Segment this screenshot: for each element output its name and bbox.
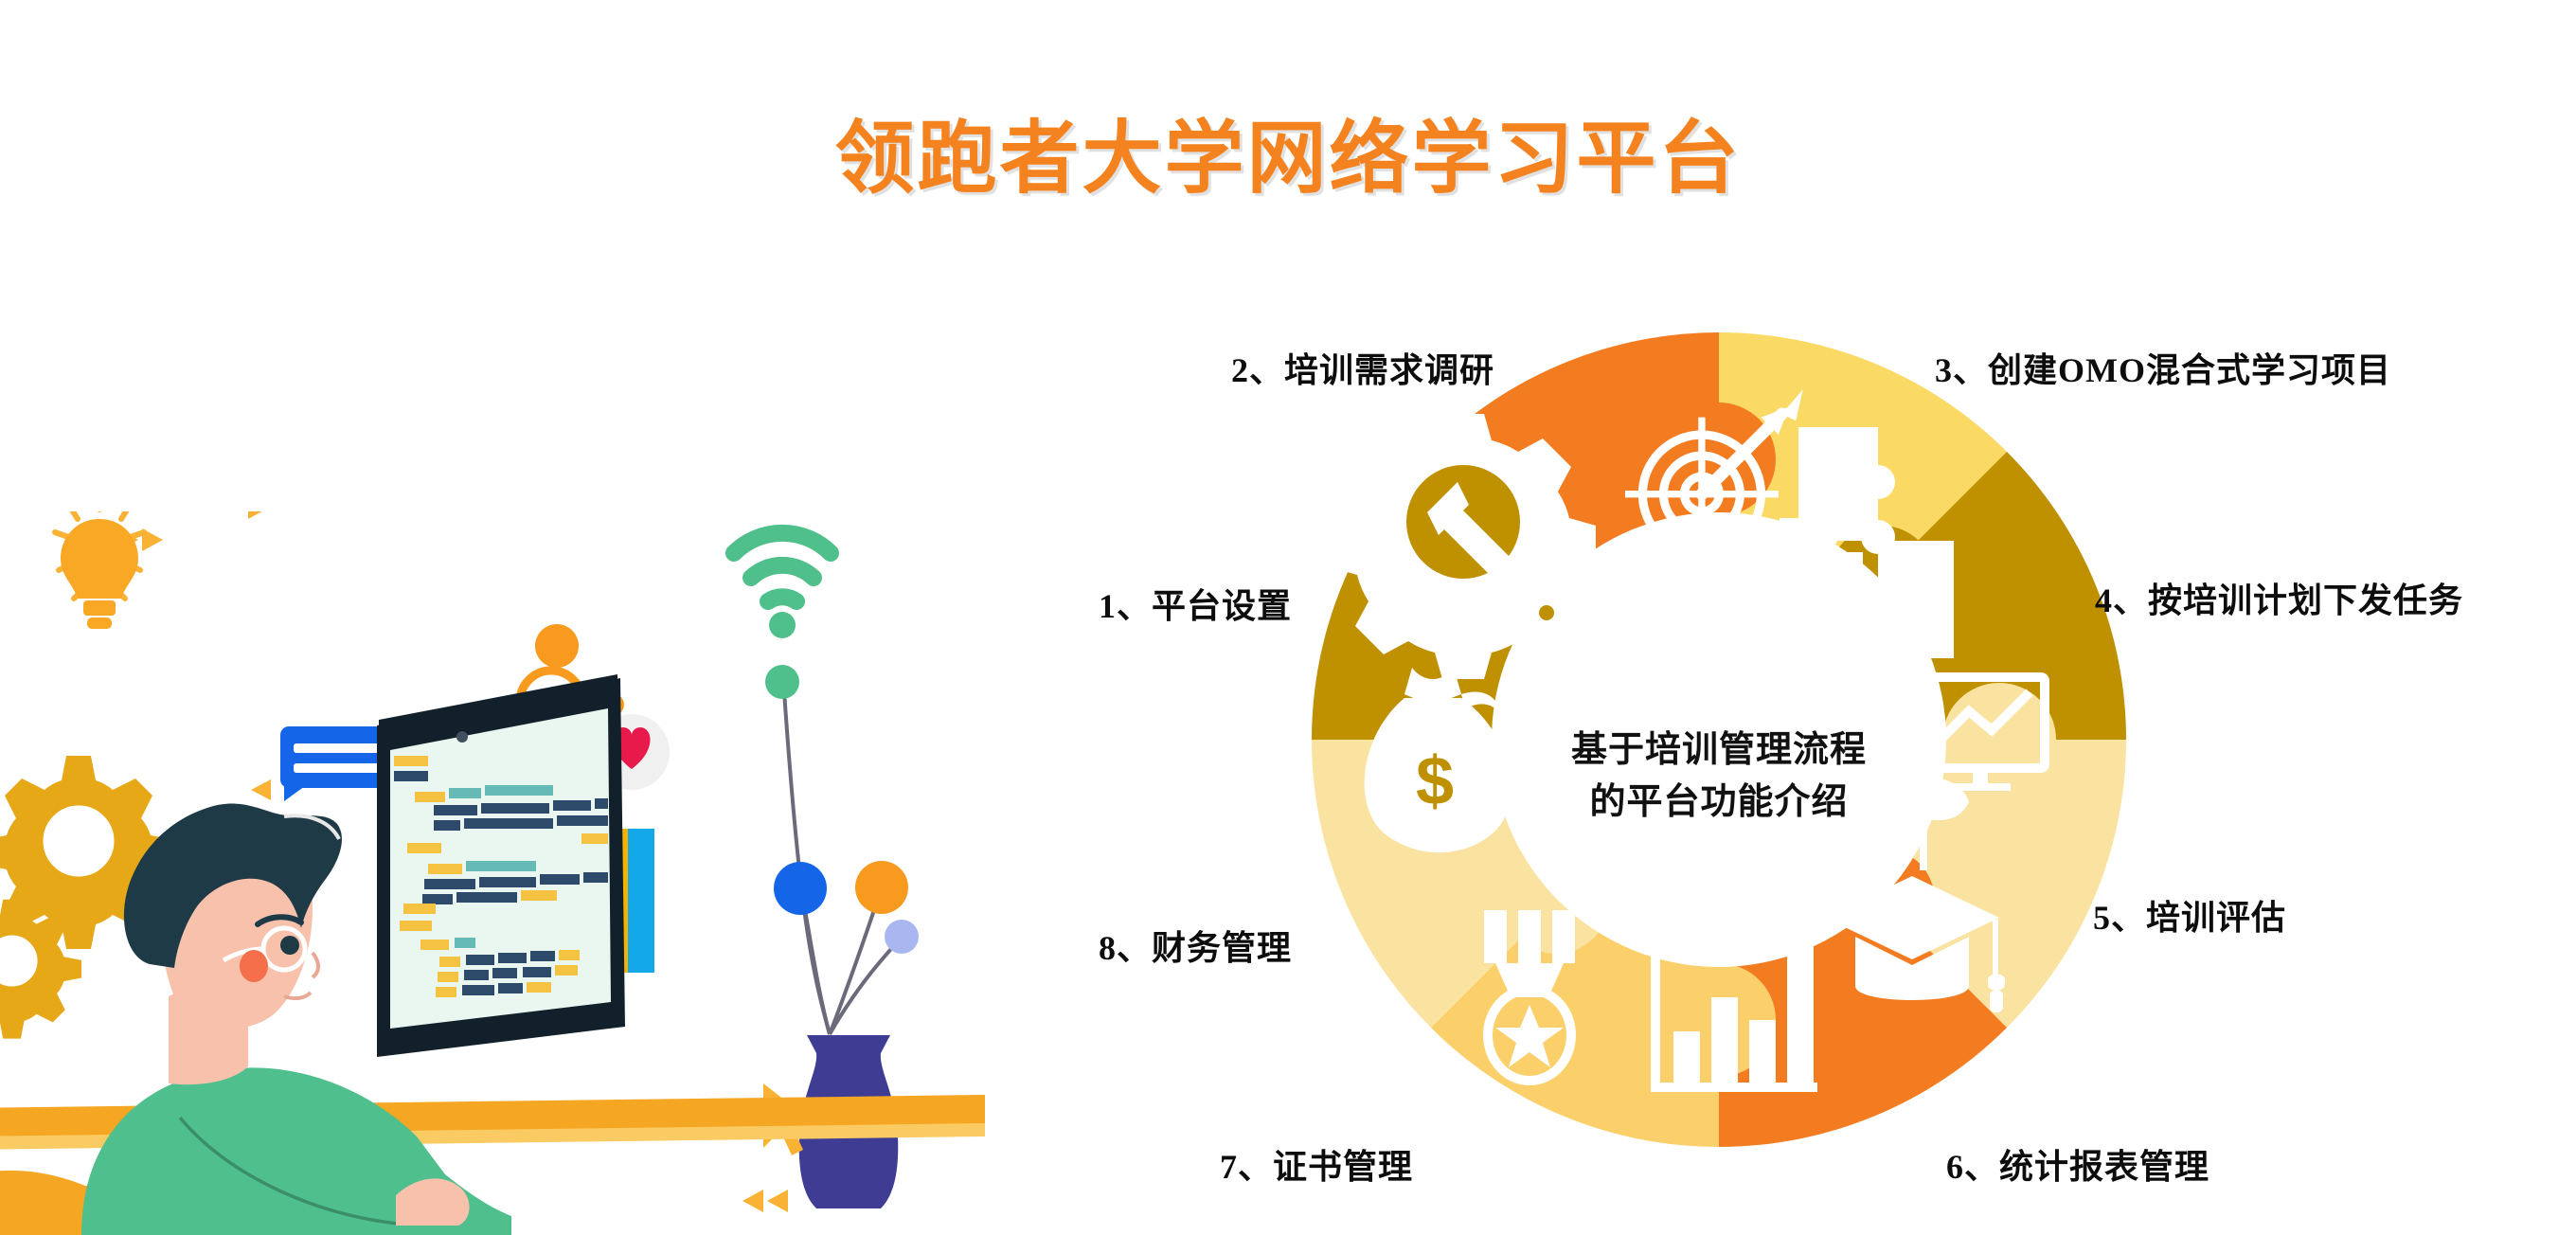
segment-label-8[interactable]: 8、财务管理 <box>1099 921 1292 970</box>
segment-label-2[interactable]: 2、培训需求调研 <box>1231 343 1494 392</box>
svg-text:$: $ <box>1416 743 1454 819</box>
person-at-laptop-illustration <box>0 511 1004 1235</box>
segment-label-6[interactable]: 6、统计报表管理 <box>1946 1139 2209 1189</box>
segment-label-4[interactable]: 4、按培训计划下发任务 <box>2095 573 2463 622</box>
lightbulb-icon <box>55 511 144 629</box>
slide-canvas: 领跑者大学网络学习平台 <box>0 0 2576 1235</box>
center-caption: 基于培训管理流程 的平台功能介绍 <box>1473 725 1965 829</box>
segment-label-1[interactable]: 1、平台设置 <box>1099 579 1292 628</box>
segment-label-3[interactable]: 3、创建OMO混合式学习项目 <box>1935 343 2391 392</box>
laptop <box>377 674 625 1057</box>
segment-label-7[interactable]: 7、证书管理 <box>1220 1139 1413 1189</box>
gear-wrench-icon <box>1331 414 1596 679</box>
page-title: 领跑者大学网络学习平台 <box>0 95 2576 209</box>
wifi-icon <box>734 533 831 601</box>
center-caption-line1: 基于培训管理流程 <box>1473 725 1965 777</box>
wifi-dot <box>769 612 796 638</box>
segment-label-5[interactable]: 5、培训评估 <box>2093 890 2286 940</box>
center-caption-line2: 的平台功能介绍 <box>1473 777 1965 829</box>
rewind-icon <box>742 1190 788 1212</box>
